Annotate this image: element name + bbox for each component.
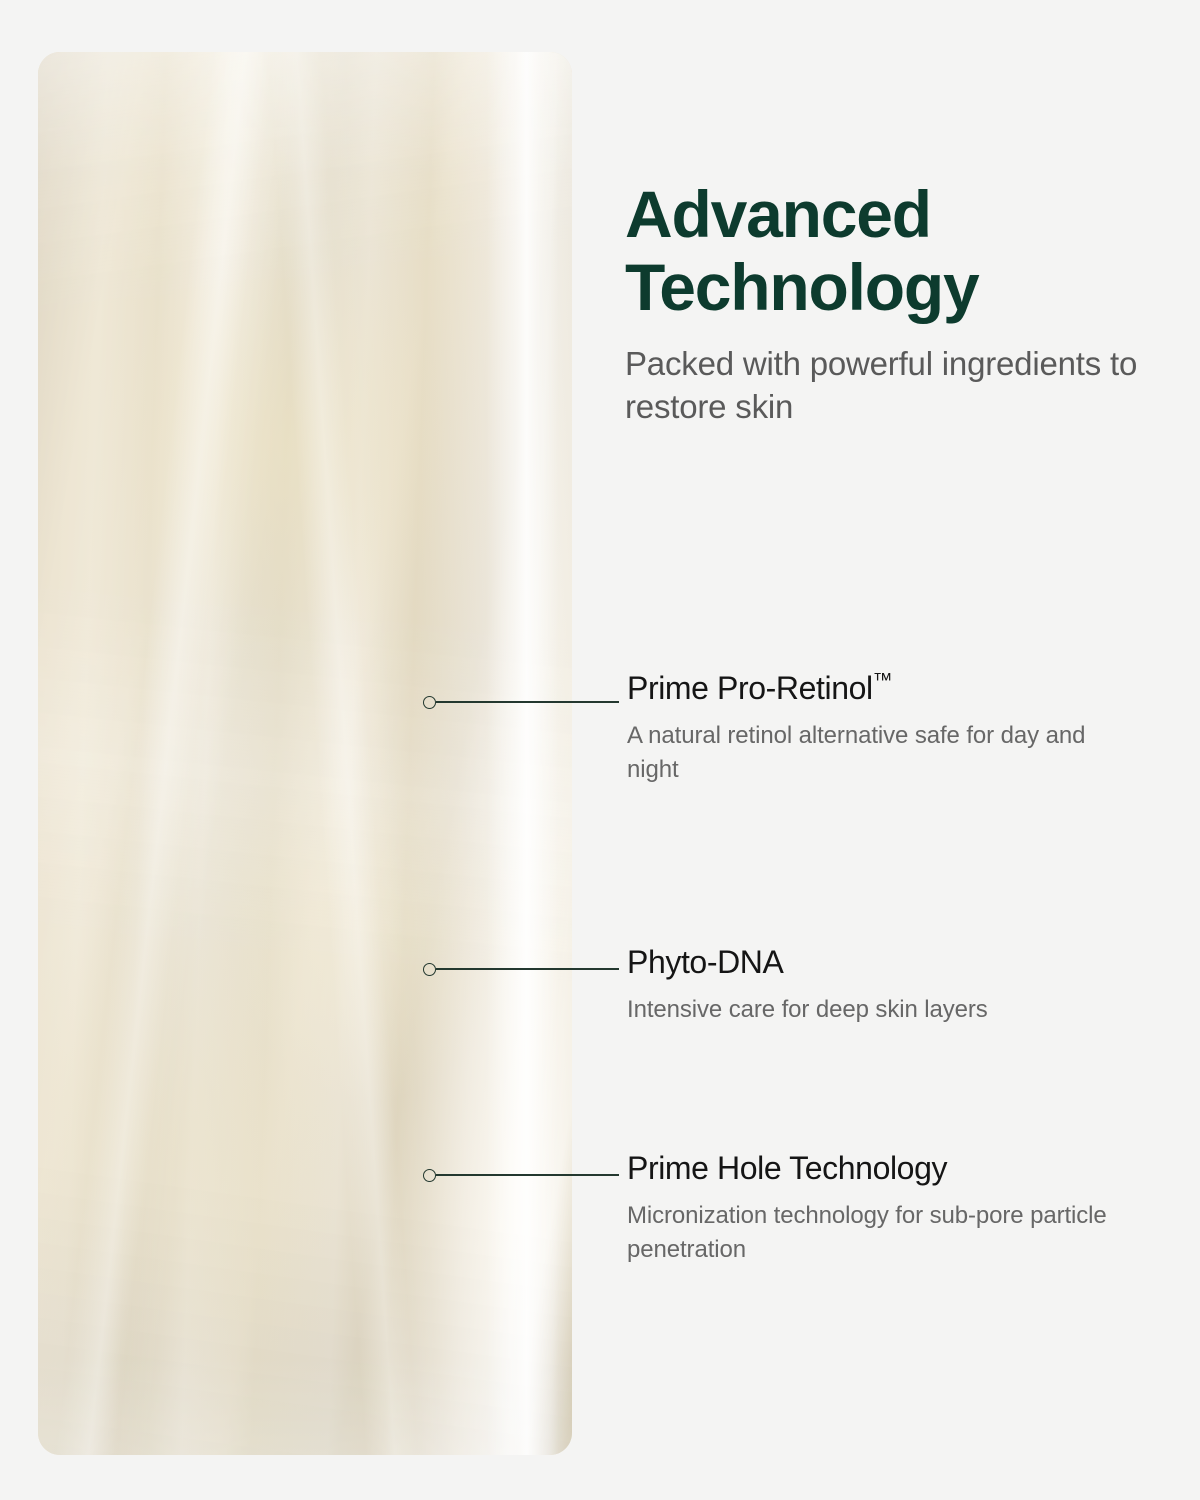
- page-title: Advanced Technology: [625, 178, 1155, 323]
- circle-marker-icon: [423, 963, 436, 976]
- callout-title-text-2: Phyto-DNA: [627, 944, 783, 980]
- product-edge-shading: [38, 52, 572, 1455]
- callout-leader-1: [423, 695, 619, 709]
- callout-prime-pro-retinol: Prime Pro-Retinol™ A natural retinol alt…: [627, 668, 1097, 786]
- page-subtitle: Packed with powerful ingredients to rest…: [625, 343, 1155, 429]
- product-image: [38, 52, 572, 1455]
- leader-line: [436, 701, 619, 703]
- callout-leader-3: [423, 1168, 619, 1182]
- headline-block: Advanced Technology Packed with powerful…: [625, 178, 1155, 429]
- leader-line: [436, 968, 619, 970]
- trademark-icon: ™: [873, 670, 893, 692]
- callout-title-1: Prime Pro-Retinol™: [627, 668, 1097, 708]
- callout-title-text-3: Prime Hole Technology: [627, 1150, 947, 1186]
- callout-title-2: Phyto-DNA: [627, 942, 1097, 982]
- callout-phyto-dna: Phyto-DNA Intensive care for deep skin l…: [627, 942, 1097, 1027]
- circle-marker-icon: [423, 1169, 436, 1182]
- callout-title-3: Prime Hole Technology: [627, 1148, 1107, 1188]
- circle-marker-icon: [423, 696, 436, 709]
- leader-line: [436, 1174, 619, 1176]
- callout-leader-2: [423, 962, 619, 976]
- infographic-page: Advanced Technology Packed with powerful…: [0, 0, 1200, 1500]
- callout-title-text-1: Prime Pro-Retinol: [627, 670, 873, 706]
- callout-description-1: A natural retinol alternative safe for d…: [627, 719, 1097, 786]
- callout-description-2: Intensive care for deep skin layers: [627, 993, 1097, 1027]
- callout-prime-hole-technology: Prime Hole Technology Micronization tech…: [627, 1148, 1107, 1266]
- callout-description-3: Micronization technology for sub-pore pa…: [627, 1199, 1107, 1266]
